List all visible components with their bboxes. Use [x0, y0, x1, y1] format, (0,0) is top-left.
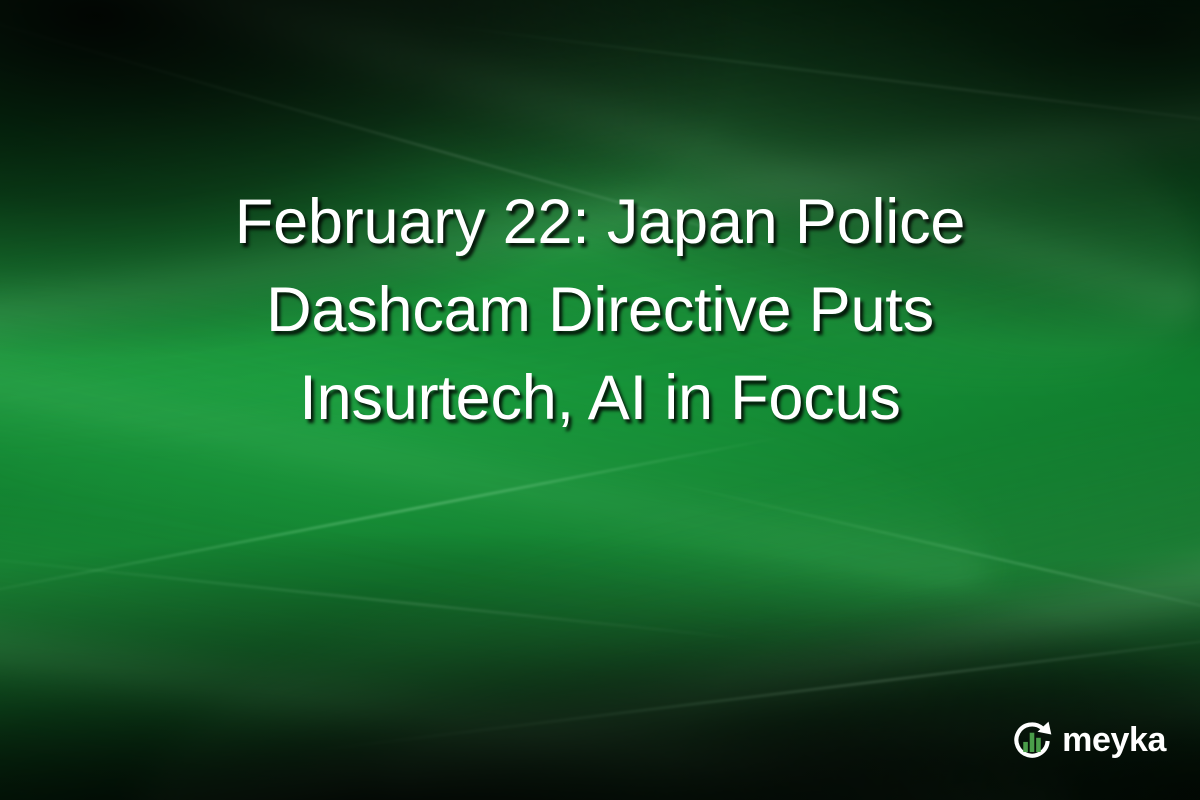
headline: February 22: Japan Police Dashcam Direct… [0, 178, 1200, 442]
headline-line-1: February 22: Japan Police [70, 178, 1130, 266]
background-filament-2 [424, 22, 1200, 143]
headline-line-2: Dashcam Directive Puts [70, 266, 1130, 354]
background-filament-5 [0, 553, 758, 641]
background-filament-3 [0, 434, 792, 608]
background-ribbon-d [0, 430, 1094, 800]
news-card: February 22: Japan Police Dashcam Direct… [0, 0, 1200, 800]
logo-bar-3 [1036, 738, 1041, 752]
brand-name: meyka [1062, 723, 1166, 757]
meyka-logo-icon [1009, 718, 1055, 764]
logo-bar-1 [1023, 742, 1028, 752]
background-shadow-wave-bottom-left [0, 659, 829, 800]
logo-bar-2 [1030, 733, 1035, 752]
brand-lockup[interactable]: meyka [1009, 718, 1166, 764]
background-filament-6 [649, 477, 1200, 636]
headline-line-3: Insurtech, AI in Focus [70, 354, 1130, 442]
